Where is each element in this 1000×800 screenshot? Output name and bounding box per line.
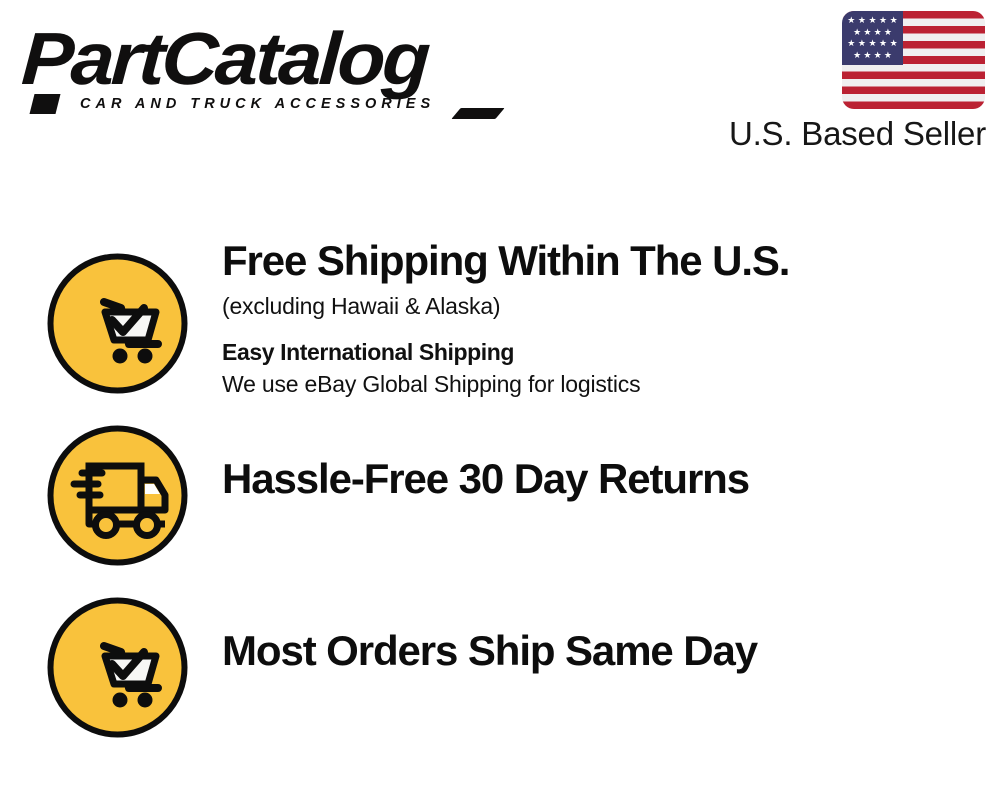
star-icon: ★ (890, 16, 898, 25)
shopping-cart-check-icon (44, 250, 191, 397)
benefit-title: Free Shipping Within The U.S. (222, 236, 962, 286)
star-icon: ★ (884, 51, 892, 60)
star-icon: ★ (868, 16, 876, 25)
star-icon: ★ (853, 28, 861, 37)
star-icon: ★ (863, 51, 871, 60)
star-icon: ★ (879, 16, 887, 25)
benefit-subtitle: (excluding Hawaii & Alaska) (222, 290, 962, 322)
delivery-truck-icon (44, 422, 191, 569)
star-icon: ★ (879, 39, 887, 48)
star-row: ★ ★ ★ ★ (846, 28, 899, 37)
us-based-seller-label: U.S. Based Seller (724, 115, 986, 153)
brand-wordmark: PartCatalog (20, 22, 429, 96)
us-flag-icon: ★ ★ ★ ★ ★ ★ ★ ★ ★ ★ ★ ★ ★ ★ (842, 11, 985, 109)
benefit-title: Hassle-Free 30 Day Returns (222, 454, 962, 504)
logo-flourish-right-icon (451, 108, 504, 119)
benefit-subtitle-detail: We use eBay Global Shipping for logistic… (222, 368, 962, 400)
flag-canton: ★ ★ ★ ★ ★ ★ ★ ★ ★ ★ ★ ★ ★ ★ (842, 11, 903, 65)
benefit-text-block: Free Shipping Within The U.S. (excluding… (222, 236, 962, 400)
benefit-row: Free Shipping Within The U.S. (excluding… (0, 240, 1000, 400)
benefit-title: Most Orders Ship Same Day (222, 626, 962, 676)
star-icon: ★ (890, 39, 898, 48)
star-icon: ★ (868, 39, 876, 48)
flag-stars: ★ ★ ★ ★ ★ ★ ★ ★ ★ ★ ★ ★ ★ ★ (842, 11, 903, 65)
star-icon: ★ (858, 16, 866, 25)
star-row: ★ ★ ★ ★ ★ (846, 16, 899, 25)
page-header: PartCatalog CAR AND TRUCK ACCESSORIES ★ … (0, 0, 1000, 175)
star-icon: ★ (853, 51, 861, 60)
star-icon: ★ (884, 28, 892, 37)
brand-logo[interactable]: PartCatalog CAR AND TRUCK ACCESSORIES (24, 22, 494, 118)
star-icon: ★ (863, 28, 871, 37)
star-row: ★ ★ ★ ★ ★ (846, 39, 899, 48)
star-icon: ★ (847, 39, 855, 48)
benefit-row: Hassle-Free 30 Day Returns (0, 412, 1000, 572)
star-icon: ★ (858, 39, 866, 48)
star-icon: ★ (874, 28, 882, 37)
benefit-subtitle-strong: Easy International Shipping (222, 336, 962, 368)
star-icon: ★ (874, 51, 882, 60)
star-row: ★ ★ ★ ★ (846, 51, 899, 60)
star-icon: ★ (847, 16, 855, 25)
shopping-cart-check-icon (44, 594, 191, 741)
benefit-row: Most Orders Ship Same Day (0, 584, 1000, 744)
brand-tagline: CAR AND TRUCK ACCESSORIES (80, 96, 435, 112)
benefit-text-block: Most Orders Ship Same Day (222, 626, 962, 676)
benefit-text-block: Hassle-Free 30 Day Returns (222, 454, 962, 504)
